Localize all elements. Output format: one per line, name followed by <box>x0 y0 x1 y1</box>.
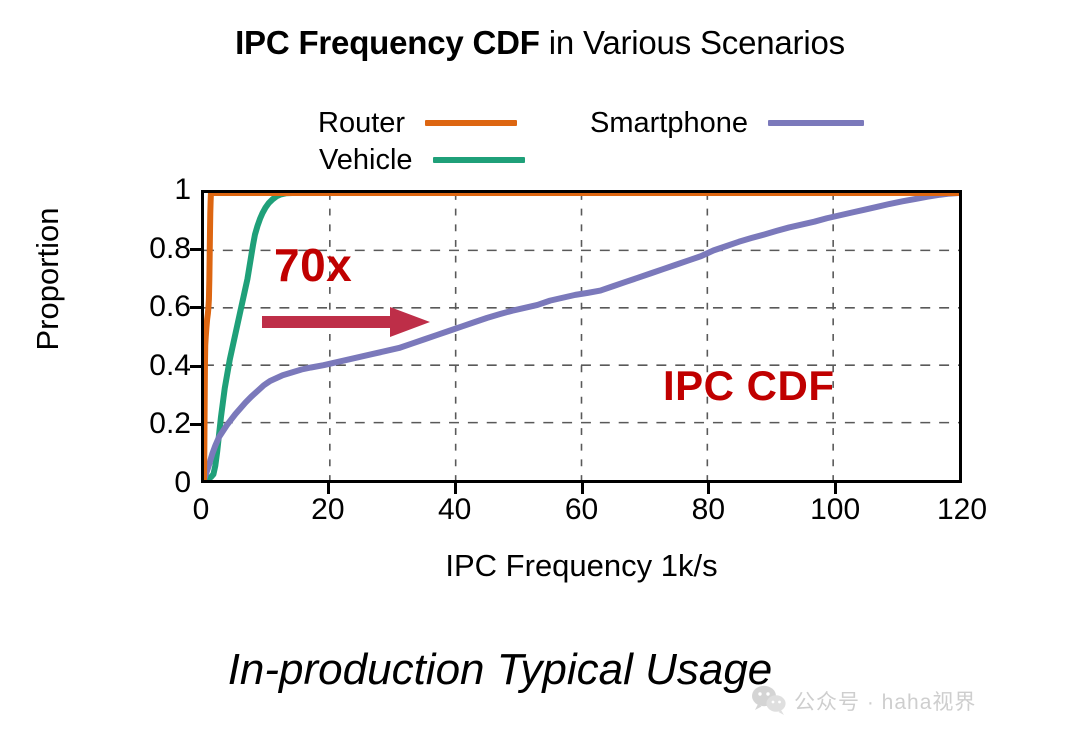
speedup-annotation: 70x <box>274 240 352 290</box>
wechat-icon <box>752 685 786 720</box>
y-tick-label: 0.2 <box>121 409 191 439</box>
right-arrow-icon <box>262 305 432 339</box>
x-tick-label: 0 <box>156 495 246 525</box>
x-tick-label: 80 <box>663 495 753 525</box>
legend-swatch-vehicle <box>433 157 525 163</box>
y-axis-ticks <box>190 190 202 483</box>
title-rest-part: in Various Scenarios <box>540 24 845 61</box>
y-tick-mark <box>190 423 201 426</box>
x-tick-label: 120 <box>917 495 1007 525</box>
legend-label-vehicle: Vehicle <box>319 143 413 177</box>
title-bold-part: IPC Frequency CDF <box>235 24 540 61</box>
wechat-glyph <box>752 685 786 715</box>
legend-item-router[interactable]: Router <box>318 106 517 140</box>
x-axis-title: IPC Frequency 1k/s <box>201 548 962 584</box>
y-axis-tick-labels: 00.20.40.60.81 <box>115 190 191 483</box>
y-tick-label: 1 <box>121 175 191 205</box>
y-tick-label: 0.4 <box>121 351 191 381</box>
y-tick-label: 0.8 <box>121 234 191 264</box>
y-axis-title: Proportion <box>31 169 65 389</box>
legend-item-smartphone[interactable]: Smartphone <box>590 106 864 140</box>
x-tick-label: 40 <box>410 495 500 525</box>
legend-item-vehicle[interactable]: Vehicle <box>319 143 525 177</box>
watermark: 公众号 · haha视界 <box>752 685 976 720</box>
x-tick-label: 100 <box>790 495 880 525</box>
legend-swatch-router <box>425 120 517 126</box>
arrow-svg <box>262 305 432 339</box>
y-tick-mark <box>190 365 201 368</box>
y-tick-mark <box>190 306 201 309</box>
legend-label-router: Router <box>318 106 405 140</box>
y-tick-label: 0.6 <box>121 292 191 322</box>
x-axis-tick-labels: 020406080100120 <box>201 495 962 531</box>
y-tick-label: 0 <box>121 468 191 498</box>
x-tick-label: 20 <box>283 495 373 525</box>
legend-label-smartphone: Smartphone <box>590 106 748 140</box>
x-tick-label: 60 <box>537 495 627 525</box>
page-title: IPC Frequency CDF in Various Scenarios <box>0 22 1080 64</box>
chart-legend: Router Vehicle Smartphone <box>318 104 958 176</box>
legend-swatch-smartphone <box>768 120 864 126</box>
y-tick-mark <box>190 248 201 251</box>
watermark-text: 公众号 · haha视界 <box>794 690 976 716</box>
ipc-cdf-annotation: IPC CDF <box>663 363 835 409</box>
